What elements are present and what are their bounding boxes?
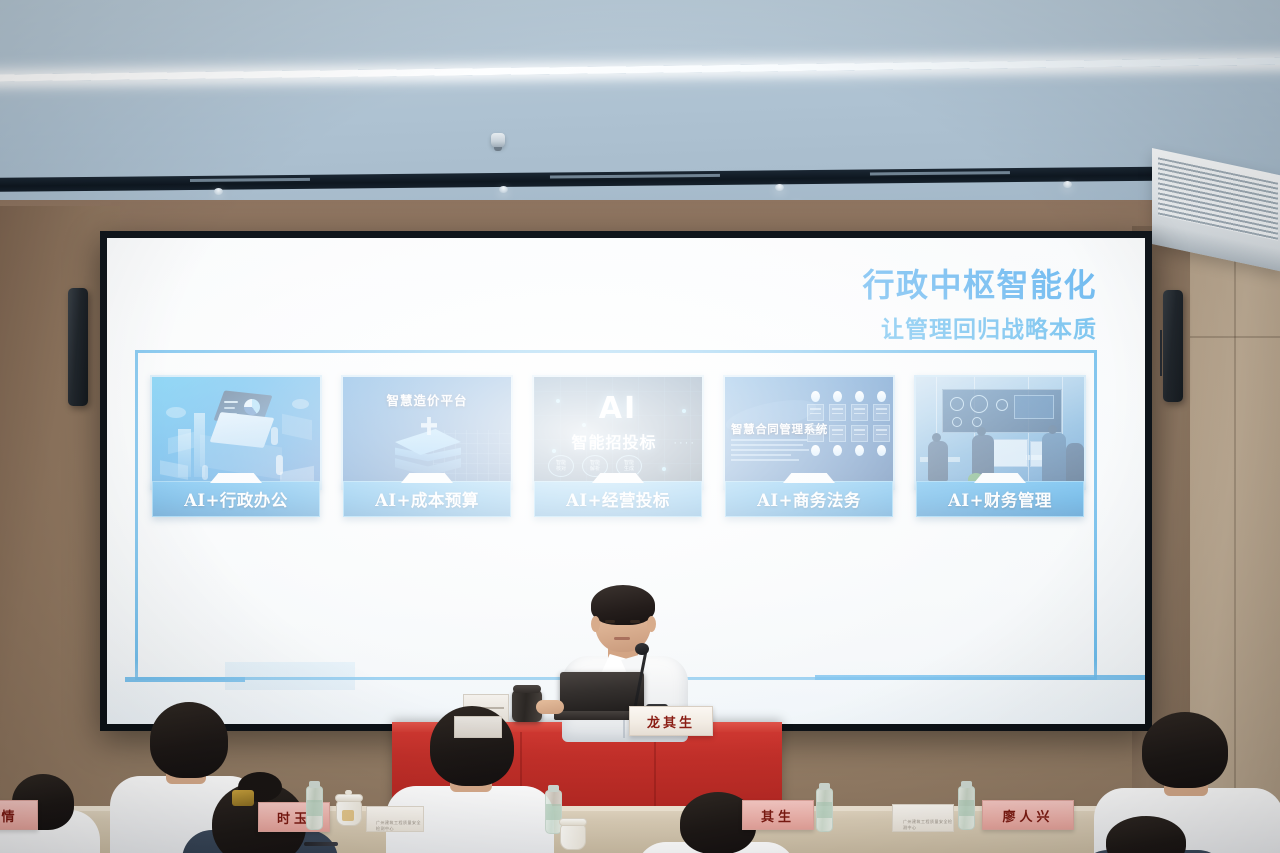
gift-box: 广州建筑工程质量安全检测中心	[366, 806, 424, 832]
led-light-strip	[0, 57, 1280, 81]
downlight-icon	[775, 184, 784, 191]
capability-card: 智慧造价平台 AI+成本预算	[341, 375, 513, 517]
card-thumbnail-contract-system: 智慧合同管理系统	[723, 375, 895, 490]
audience-nameplate-text: 情	[1, 806, 18, 825]
microphone-icon	[635, 643, 649, 655]
bottle-label	[307, 800, 322, 816]
bottle-label	[959, 800, 974, 816]
card-label-text: AI+经营投标	[566, 487, 670, 511]
bottle-cap	[819, 783, 830, 790]
card-label-text: AI+行政办公	[184, 487, 288, 511]
audience-nameplate: 情	[0, 800, 38, 830]
bottle-cap	[961, 781, 972, 788]
presenter-nameplate-text: 龙其生	[647, 712, 695, 731]
card-label-text: AI+财务管理	[948, 487, 1052, 511]
smoke-detector-icon	[491, 133, 505, 148]
thumbnail-caption-secondary: 智能招投标	[534, 429, 694, 453]
downlight-icon	[214, 188, 223, 195]
tea-cup	[560, 824, 586, 850]
card-label[interactable]: AI+商务法务	[725, 481, 893, 517]
presenter-nameplate: 龙其生	[629, 706, 713, 736]
card-label[interactable]: AI+成本预算	[343, 481, 511, 517]
thumbnail-caption: 智慧造价平台	[343, 390, 511, 409]
slide-subtitle: 让管理回归战略本质	[862, 310, 1097, 344]
card-thumbnail-finance-office	[914, 375, 1086, 490]
card-label[interactable]: AI+经营投标	[534, 481, 702, 517]
downlight-icon	[1063, 181, 1072, 188]
thermos-lid	[513, 685, 541, 693]
bottle-cap	[309, 781, 320, 788]
thumbnail-pill: 智能核对	[548, 455, 574, 477]
tea-cup-lid	[559, 818, 587, 826]
slide-heading-group: 行政中枢智能化 让管理回归战略本质	[862, 260, 1097, 344]
card-label-text: AI+商务法务	[757, 487, 861, 511]
capability-card: AI+财务管理	[914, 375, 1086, 517]
presenter-hand	[536, 700, 564, 714]
card-label-text: AI+成本预算	[375, 487, 479, 511]
thumbnail-caption: AI	[534, 391, 702, 426]
capability-card-list: AI+行政办公 智慧造价平台	[150, 375, 1086, 517]
capability-card: 智慧合同管理系统	[723, 375, 895, 517]
audience-nameplate: 廖人兴	[982, 800, 1074, 830]
card-thumbnail-admin-office	[150, 375, 322, 490]
audience-nameplate: 其生	[742, 800, 814, 830]
pen	[304, 842, 338, 846]
tea-cup-knob	[345, 790, 352, 795]
card-label[interactable]: AI+财务管理	[916, 481, 1084, 517]
tea-cup-lid	[335, 794, 363, 802]
card-thumbnail-cost-platform: 智慧造价平台	[341, 375, 513, 490]
wall-speaker-right	[1163, 290, 1183, 402]
capability-card: AI 智能招投标 ···· 智能核对 智能解析 智能生成 AI+经营投标	[532, 375, 704, 517]
ceiling-light-track	[0, 166, 1220, 192]
card-thumbnail-ai-bidding: AI 智能招投标 ···· 智能核对 智能解析 智能生成	[532, 375, 704, 490]
card-label[interactable]: AI+行政办公	[152, 481, 320, 517]
conference-room-scene: 行政中枢智能化 让管理回归战略本质	[0, 0, 1280, 853]
audience-nameplate-text: 其生	[761, 806, 795, 825]
audience-nameplate-text: 廖人兴	[1002, 806, 1053, 825]
wall-speaker-left	[68, 288, 88, 406]
downlight-icon	[499, 186, 508, 193]
bottle-label	[546, 804, 561, 820]
bottle-cap	[548, 785, 559, 792]
bottle-label	[817, 802, 832, 818]
ellipsis-icon: ····	[673, 437, 696, 449]
gift-box: 广州建筑工程质量安全检测中心	[892, 804, 954, 832]
slide-title: 行政中枢智能化	[862, 260, 1097, 306]
tea-cup-decor	[342, 810, 354, 821]
gift-box	[454, 716, 502, 738]
capability-card: AI+行政办公	[150, 375, 322, 517]
